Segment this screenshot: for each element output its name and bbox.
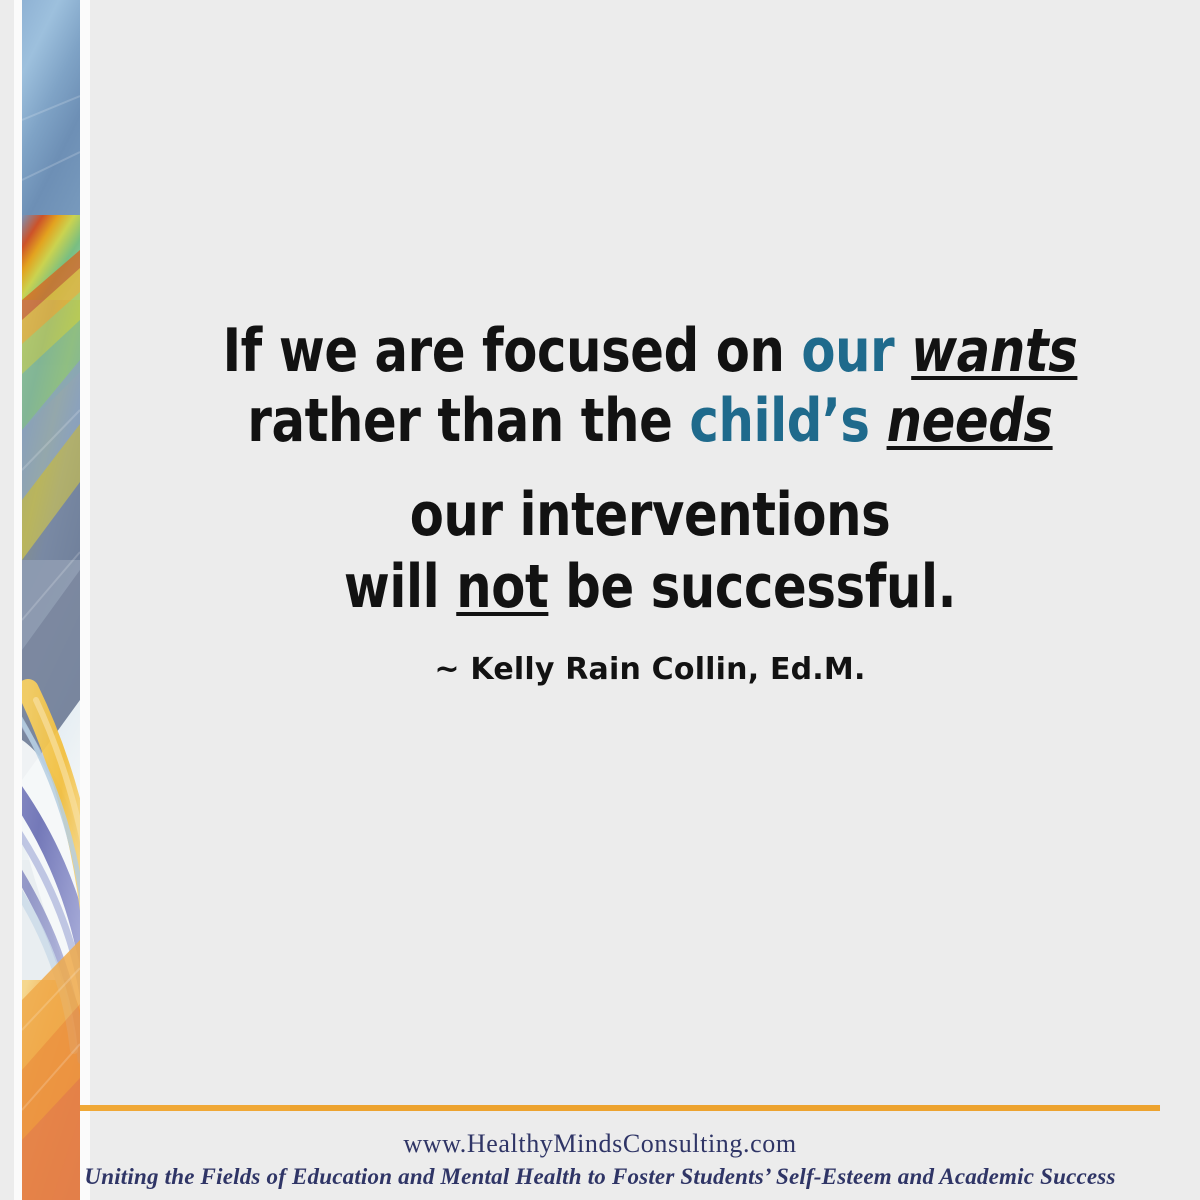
quote-attribution: ~ Kelly Rain Collin, Ed.M. (100, 652, 1200, 687)
quote-line-1-space (894, 316, 911, 386)
watercolor-strip (22, 0, 80, 1200)
footer-website-url[interactable]: www.HealthyMindsConsulting.com (0, 1128, 1200, 1160)
left-decoration-panel (0, 0, 100, 1200)
quote-line-4: will not be successful. (144, 552, 1156, 622)
quote-line-2-part-1: rather than the (247, 386, 689, 456)
quote-line-2: rather than the child’s needs (144, 386, 1156, 456)
footer-divider (80, 1105, 1160, 1111)
quote-line-4-part-2: be successful. (548, 552, 956, 622)
quote-line-4-part-1: will (344, 552, 456, 622)
quote-emphasis-wants: wants (911, 316, 1077, 386)
quote-line-1: If we are focused on our wants (144, 316, 1156, 386)
quote-line-3-part-1: our interventions (410, 480, 891, 550)
quote-card: If we are focused on our wants rather th… (0, 0, 1200, 1200)
quote-text: If we are focused on our wants rather th… (100, 316, 1200, 622)
quote-line-3: our interventions (144, 480, 1156, 550)
quote-line-2-space (870, 386, 887, 456)
quote-line-1-part-1: If we are focused on (223, 316, 802, 386)
quote-emphasis-needs: needs (887, 386, 1053, 456)
footer-tagline: Uniting the Fields of Education and Ment… (0, 1162, 1200, 1192)
quote-accent-our: our (801, 316, 894, 386)
quote-emphasis-not: not (456, 552, 548, 622)
quote-accent-childs: child’s (689, 386, 869, 456)
footer: www.HealthyMindsConsulting.com Uniting t… (0, 1128, 1200, 1192)
